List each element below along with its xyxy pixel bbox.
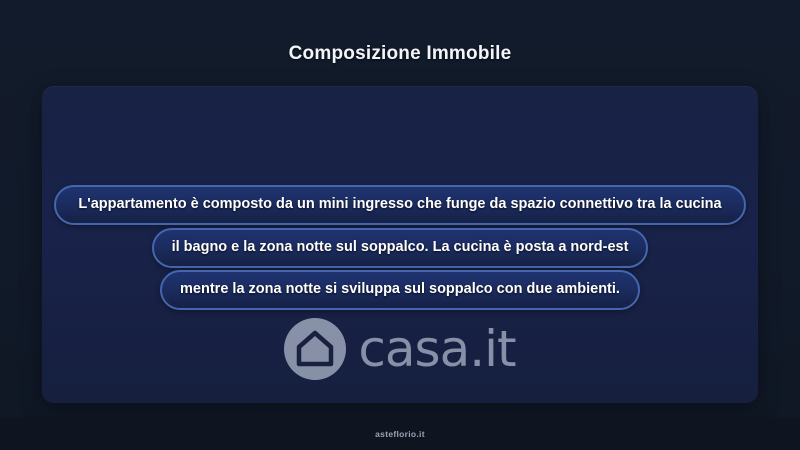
casa-it-watermark: casa.it [0, 318, 800, 380]
footer-bar: asteflorio.it [0, 418, 800, 450]
casa-it-wordmark: casa.it [358, 324, 515, 374]
description-line-1: L'appartamento è composto da un mini ing… [0, 185, 800, 225]
text-pill: il bagno e la zona notte sul soppalco. L… [152, 228, 649, 268]
footer-site-label: asteflorio.it [375, 429, 425, 439]
description-line-2: il bagno e la zona notte sul soppalco. L… [0, 228, 800, 268]
text-pill: L'appartamento è composto da un mini ing… [54, 185, 745, 225]
slide-canvas: Composizione Immobile L'appartamento è c… [0, 0, 800, 450]
description-line-3: mentre la zona notte si sviluppa sul sop… [0, 270, 800, 310]
text-pill: mentre la zona notte si sviluppa sul sop… [160, 270, 640, 310]
page-title: Composizione Immobile [0, 43, 800, 65]
house-in-circle-icon [284, 318, 346, 380]
